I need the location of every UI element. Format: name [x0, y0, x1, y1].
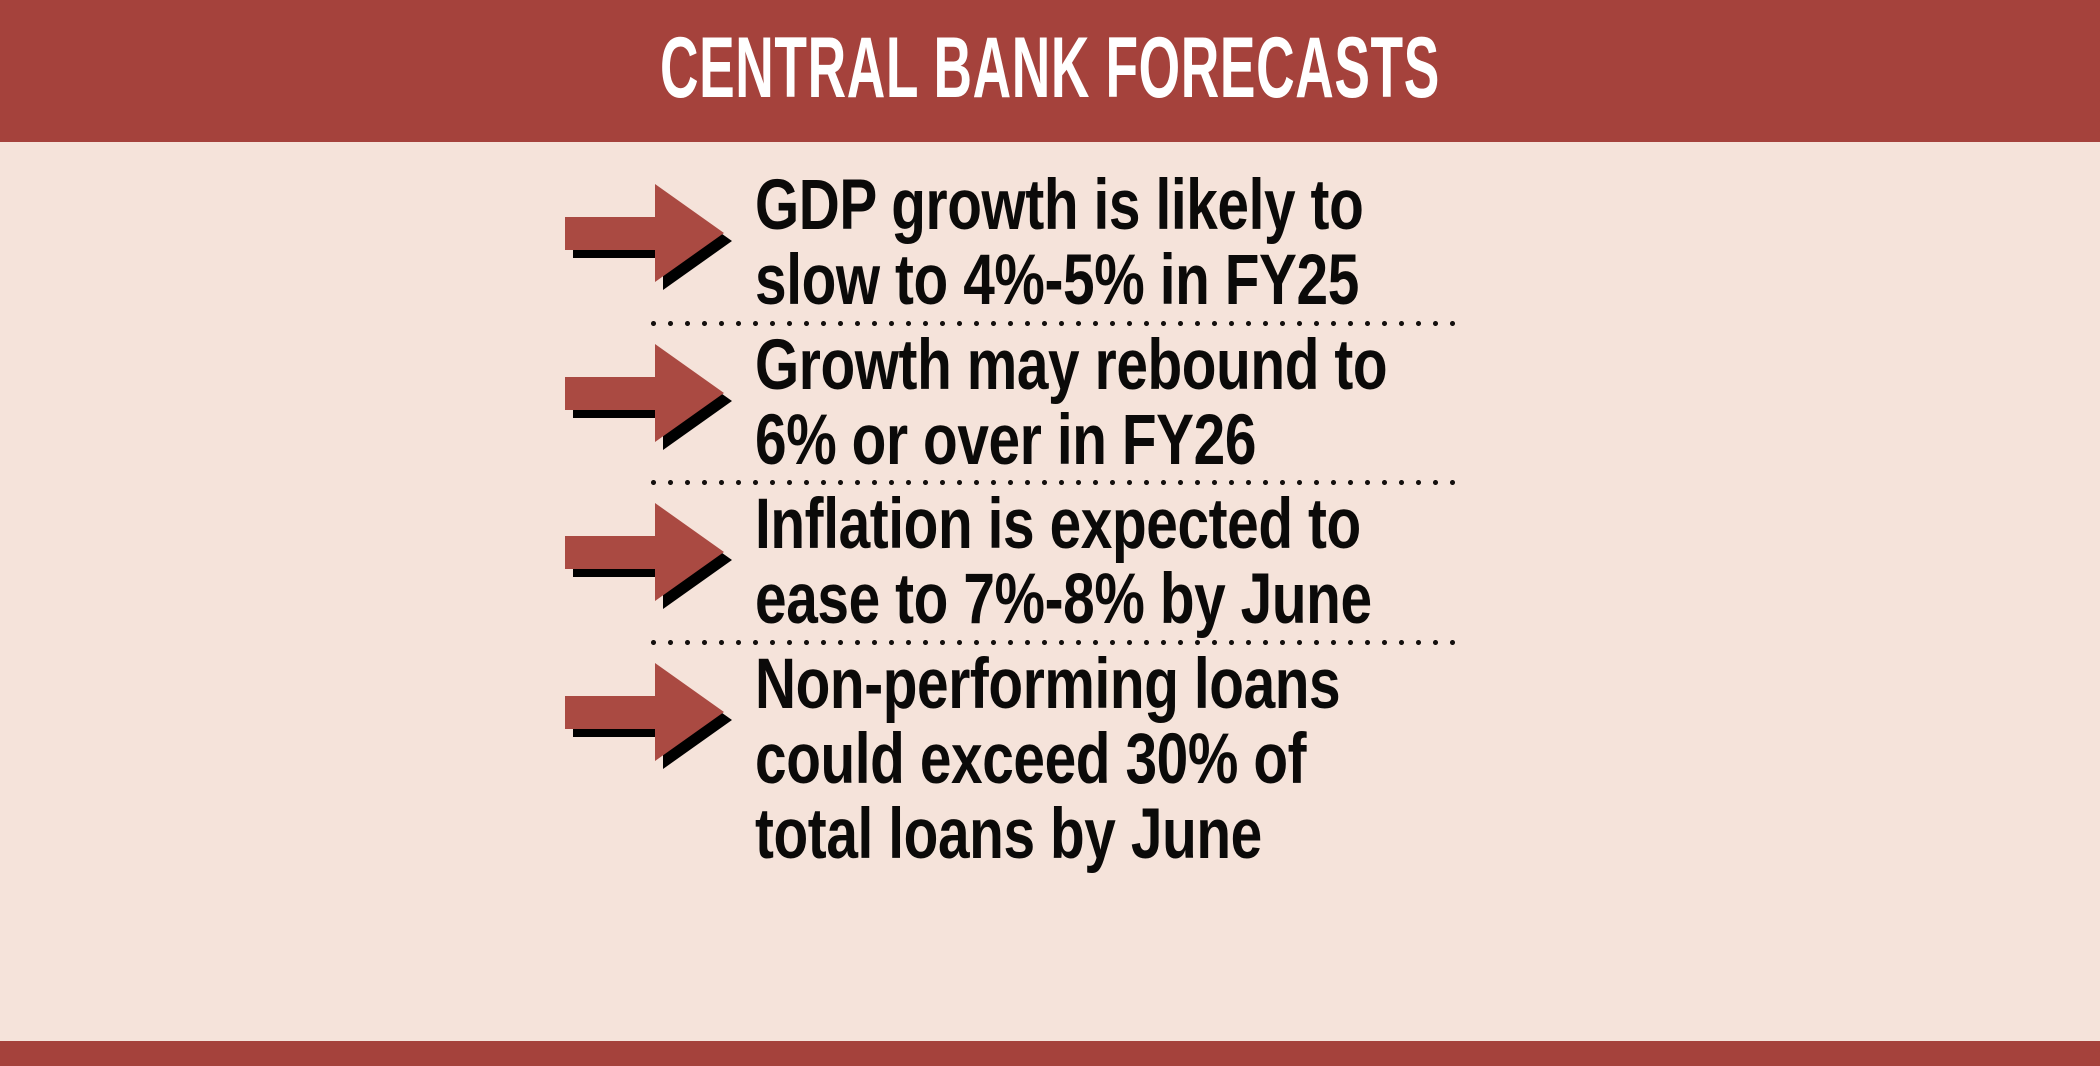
arrow-right-icon	[565, 659, 755, 769]
arrow-right-glyph	[565, 499, 740, 609]
footer-bar	[0, 1041, 2100, 1066]
list-item-text: Inflation is expected to ease to 7%-8% b…	[755, 487, 1831, 638]
list-item: Non-performing loans could exceed 30% of…	[0, 647, 2100, 873]
list-item-text: Growth may rebound to 6% or over in FY26	[755, 328, 1831, 479]
bullet-list: GDP growth is likely to slow to 4%-5% in…	[0, 168, 2100, 872]
arrow-right-glyph	[565, 340, 740, 450]
bullets-container: GDP growth is likely to slow to 4%-5% in…	[0, 142, 2100, 1041]
list-item: GDP growth is likely to slow to 4%-5% in…	[0, 168, 2100, 319]
infographic-card: Central Bank Forecasts GDP growth is lik…	[0, 0, 2100, 1066]
list-item-text: Non-performing loans could exceed 30% of…	[755, 647, 1831, 873]
list-item-text: GDP growth is likely to slow to 4%-5% in…	[755, 168, 1831, 319]
arrow-right-icon	[565, 499, 755, 609]
page-title: Central Bank Forecasts	[660, 25, 1440, 117]
list-item: Inflation is expected to ease to 7%-8% b…	[0, 487, 2100, 638]
list-item: Growth may rebound to 6% or over in FY26	[0, 328, 2100, 479]
header-bar: Central Bank Forecasts	[0, 0, 2100, 142]
arrow-right-glyph	[565, 659, 740, 769]
arrow-right-icon	[565, 180, 755, 290]
arrow-right-glyph	[565, 180, 740, 290]
arrow-right-icon	[565, 340, 755, 450]
